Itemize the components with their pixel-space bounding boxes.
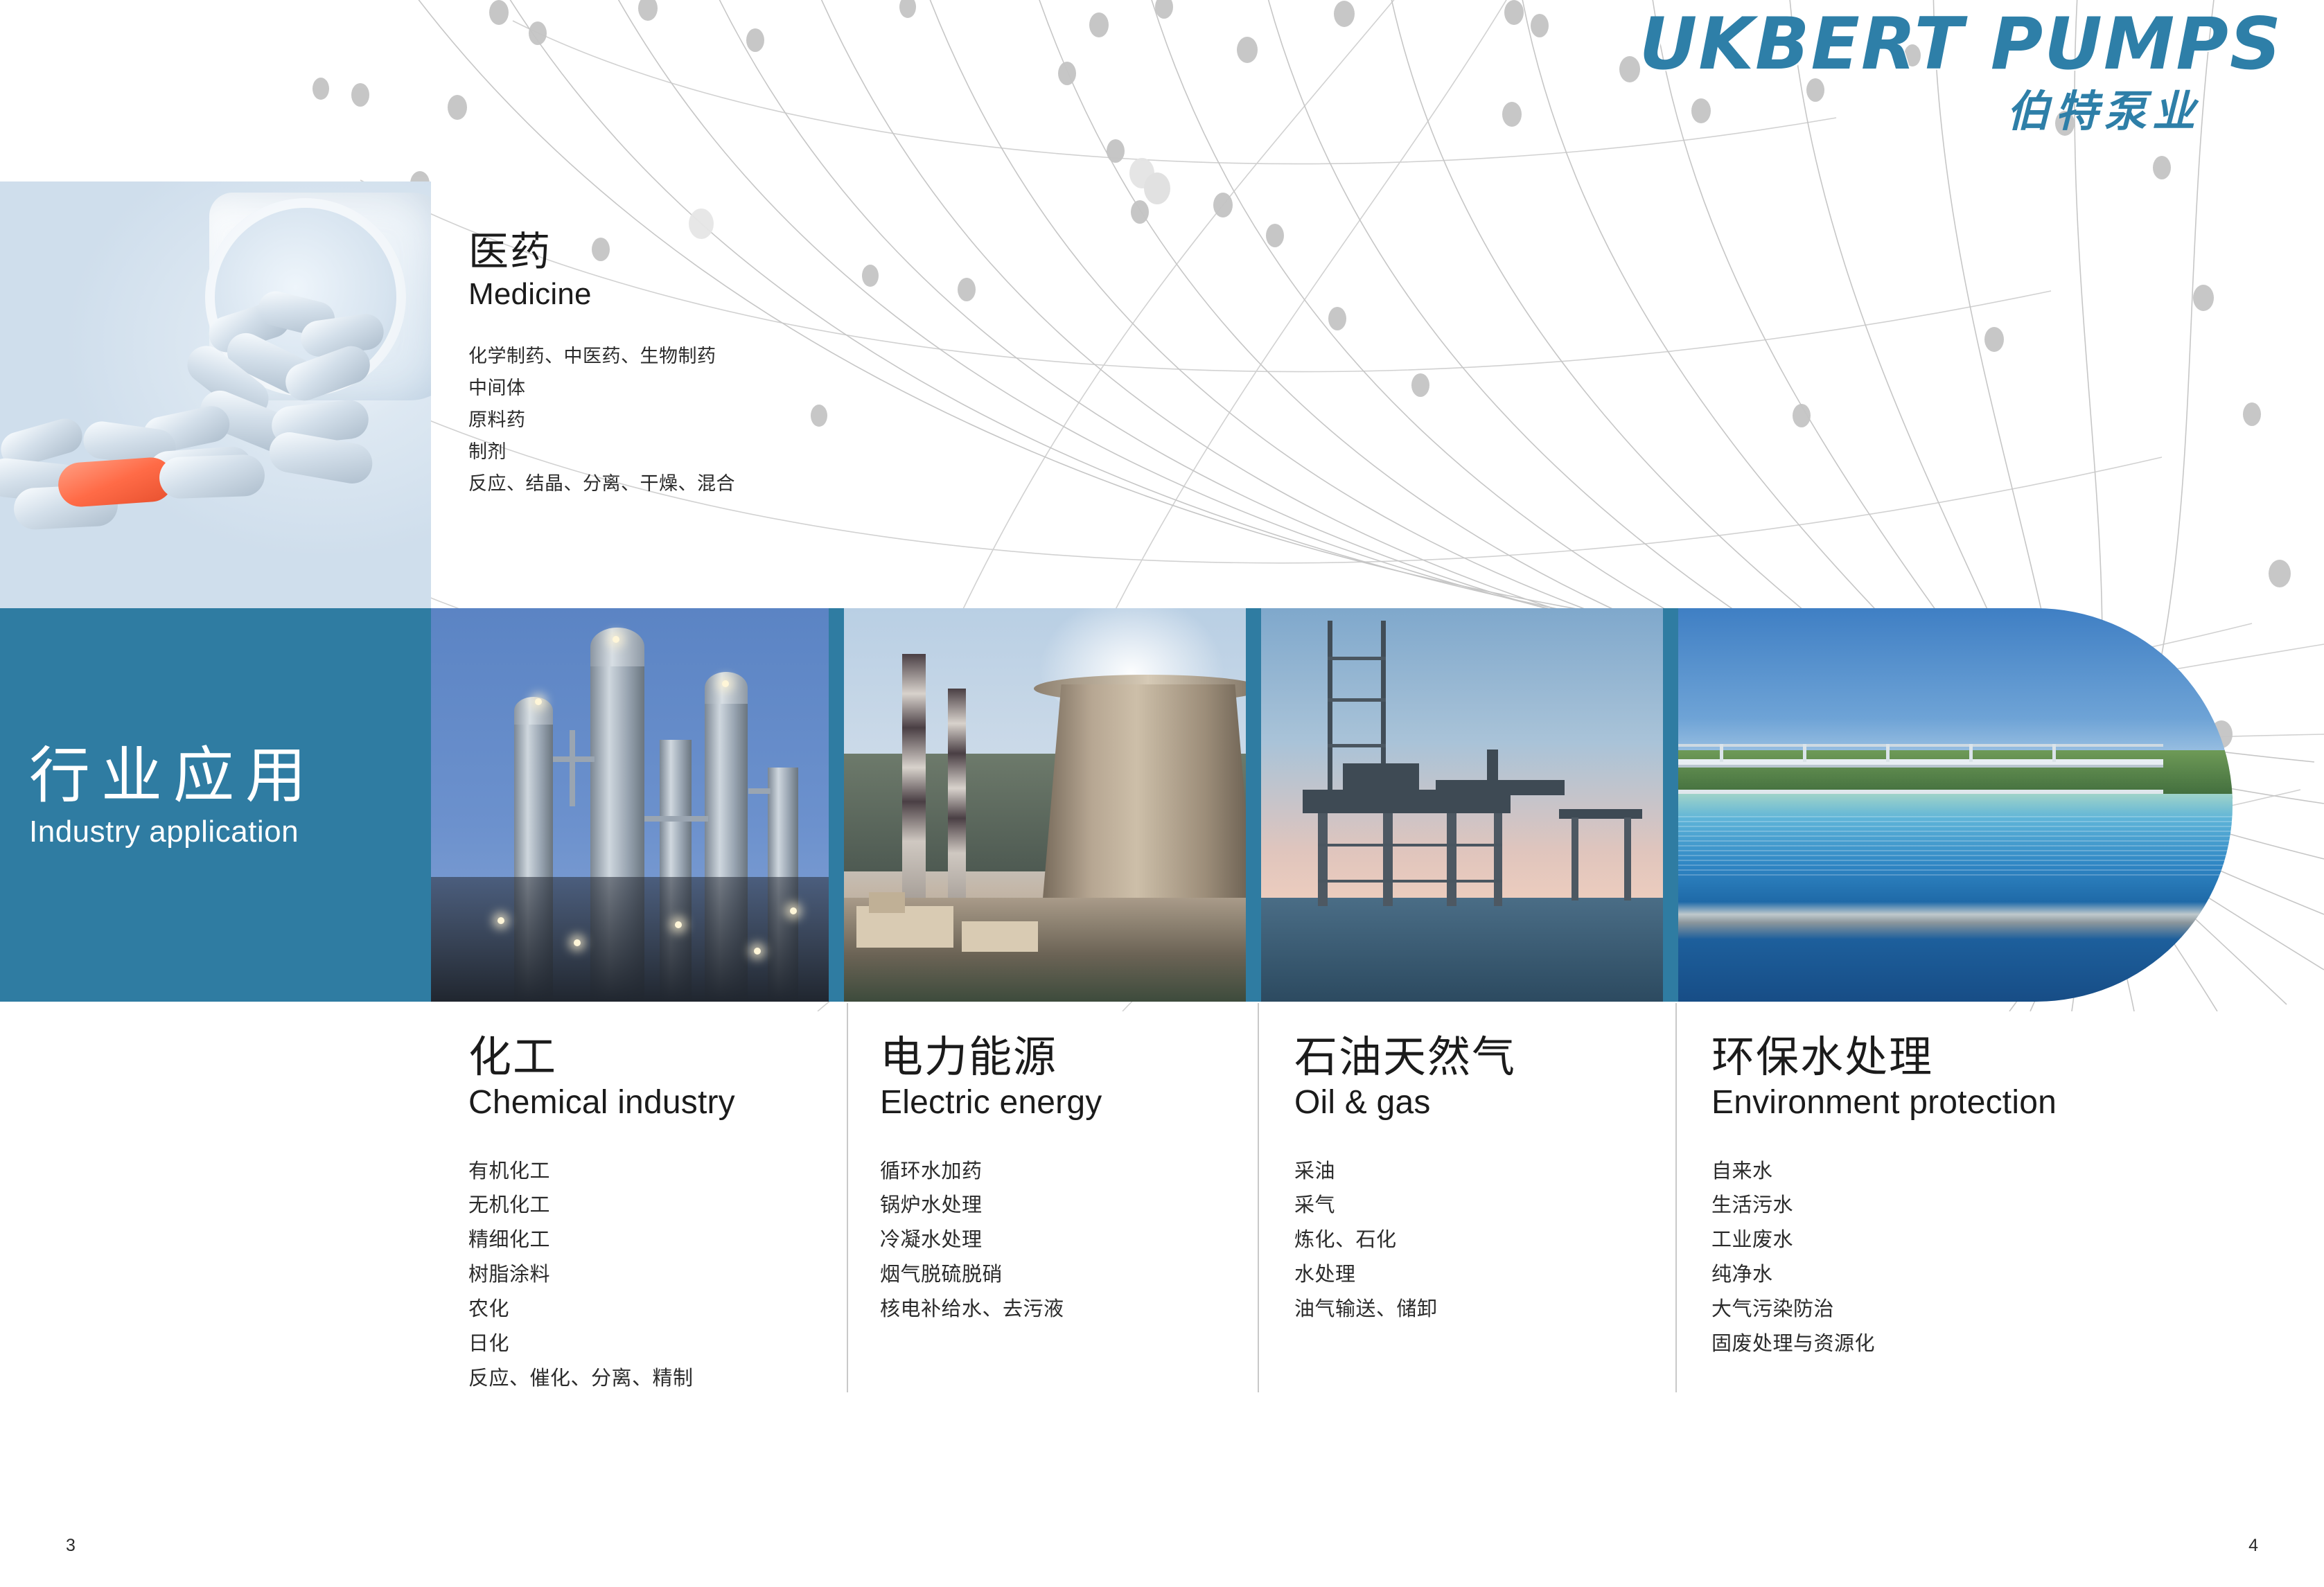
photo-divider-3: [1663, 608, 1678, 1002]
medicine-item-list: 化学制药、中医药、生物制药 中间体 原料药 制剂 反应、结晶、分离、干燥、混合: [468, 341, 735, 499]
column-divider-3: [1675, 1003, 1677, 1392]
medicine-title-cn: 医药: [468, 229, 735, 275]
list-item: 大气污染防治: [1711, 1292, 2057, 1327]
list-item: 中间体: [468, 373, 735, 405]
list-item: 采油: [1294, 1154, 1516, 1189]
medicine-text-block: 医药 Medicine 化学制药、中医药、生物制药 中间体 原料药 制剂 反应、…: [468, 229, 735, 500]
orange-capsule: [57, 456, 175, 508]
chemical-industry-text-block: 化工 Chemical industry 有机化工 无机化工 精细化工 树脂涂料…: [468, 1032, 735, 1396]
list-item: 树脂涂料: [468, 1257, 735, 1292]
list-item: 工业废水: [1711, 1223, 2057, 1257]
column-title-en: Oil & gas: [1294, 1083, 1516, 1122]
medicine-photo: [0, 181, 431, 608]
brand-name-cn: 伯特泵业: [1639, 86, 2201, 137]
medicine-title-en: Medicine: [468, 276, 735, 312]
oil-and-gas-text-block: 石油天然气 Oil & gas 采油 采气 炼化、石化 水处理 油气输送、储卸: [1294, 1032, 1516, 1327]
brand-logo: UKBERT PUMPS 伯特泵业: [1639, 7, 2282, 138]
list-item: 日化: [468, 1327, 735, 1361]
list-item: 油气输送、储卸: [1294, 1292, 1516, 1327]
list-item: 反应、结晶、分离、干燥、混合: [468, 468, 735, 500]
column-item-list: 自来水 生活污水 工业废水 纯净水 大气污染防治 固废处理与资源化: [1711, 1154, 2057, 1361]
industry-application-banner: 行业应用 Industry application: [0, 608, 431, 1002]
list-item: 烟气脱硫脱硝: [880, 1257, 1102, 1292]
list-item: 固废处理与资源化: [1711, 1327, 2057, 1361]
column-item-list: 采油 采气 炼化、石化 水处理 油气输送、储卸: [1294, 1154, 1516, 1327]
offshore-oil-rig-photo: [1261, 608, 1663, 1002]
list-item: 锅炉水处理: [880, 1188, 1102, 1223]
water-treatment-basin-photo: [1678, 608, 2233, 1002]
brand-name-en: UKBERT PUMPS: [1639, 7, 2282, 82]
column-title-en: Chemical industry: [468, 1083, 735, 1122]
list-item: 炼化、石化: [1294, 1223, 1516, 1257]
environment-protection-text-block: 环保水处理 Environment protection 自来水 生活污水 工业…: [1711, 1032, 2057, 1361]
list-item: 冷凝水处理: [880, 1223, 1102, 1257]
list-item: 纯净水: [1711, 1257, 2057, 1292]
electric-energy-text-block: 电力能源 Electric energy 循环水加药 锅炉水处理 冷凝水处理 烟…: [880, 1032, 1102, 1327]
list-item: 自来水: [1711, 1154, 2057, 1189]
column-item-list: 有机化工 无机化工 精细化工 树脂涂料 农化 日化 反应、催化、分离、精制: [468, 1154, 735, 1396]
list-item: 采气: [1294, 1188, 1516, 1223]
column-title-en: Electric energy: [880, 1083, 1102, 1122]
page-number-left: 3: [66, 1536, 76, 1556]
column-title-en: Environment protection: [1711, 1083, 2057, 1122]
column-divider-1: [847, 1003, 848, 1392]
column-divider-2: [1258, 1003, 1259, 1392]
power-plant-cooling-tower-photo: [844, 608, 1246, 1002]
banner-title-cn: 行业应用: [29, 744, 317, 808]
photo-divider-2: [1246, 608, 1261, 1002]
column-title-cn: 石油天然气: [1294, 1032, 1516, 1082]
page-number-right: 4: [2248, 1536, 2258, 1556]
list-item: 循环水加药: [880, 1154, 1102, 1189]
chemical-plant-photo: [431, 608, 829, 1002]
list-item: 水处理: [1294, 1257, 1516, 1292]
column-item-list: 循环水加药 锅炉水处理 冷凝水处理 烟气脱硫脱硝 核电补给水、去污液: [880, 1154, 1102, 1327]
list-item: 反应、催化、分离、精制: [468, 1361, 735, 1396]
list-item: 精细化工: [468, 1223, 735, 1257]
list-item: 无机化工: [468, 1188, 735, 1223]
list-item: 制剂: [468, 436, 735, 468]
list-item: 有机化工: [468, 1154, 735, 1189]
list-item: 农化: [468, 1292, 735, 1327]
column-title-cn: 环保水处理: [1711, 1032, 2057, 1082]
photo-divider-1: [829, 608, 844, 1002]
list-item: 核电补给水、去污液: [880, 1292, 1102, 1327]
column-title-cn: 化工: [468, 1032, 735, 1082]
list-item: 生活污水: [1711, 1188, 2057, 1223]
list-item: 原料药: [468, 405, 735, 436]
column-title-cn: 电力能源: [880, 1032, 1102, 1082]
list-item: 化学制药、中医药、生物制药: [468, 341, 735, 373]
banner-title-en: Industry application: [29, 815, 317, 849]
